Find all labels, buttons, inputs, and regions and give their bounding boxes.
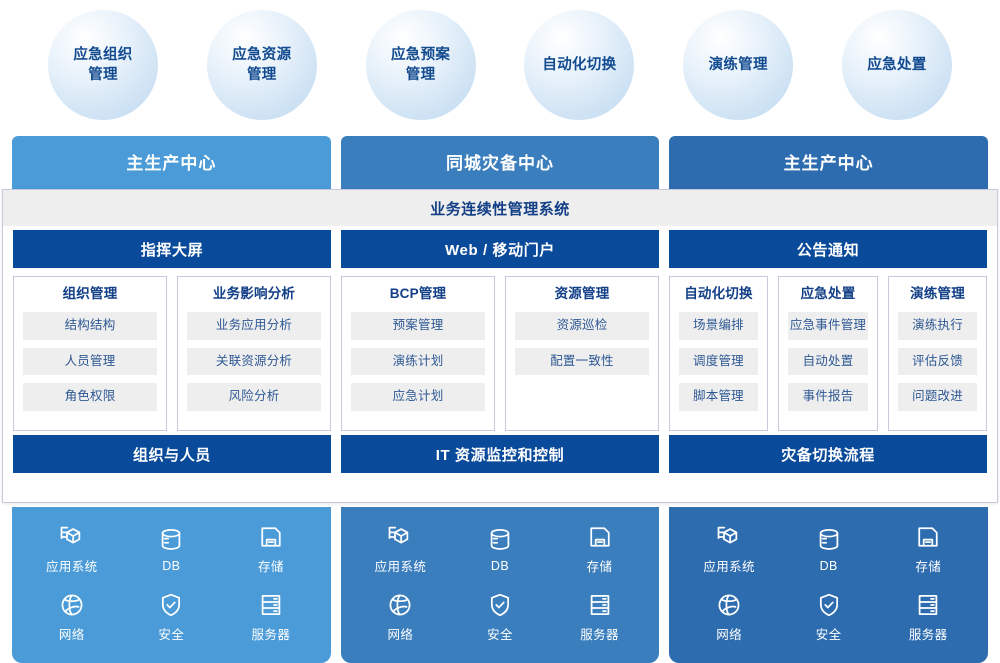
infra-label: 网络	[59, 624, 85, 643]
module-group-notification: 自动化切换场景编排调度管理脚本管理应急处置应急事件管理自动处置事件报告演练管理演…	[669, 276, 987, 431]
storage-icon	[914, 523, 942, 551]
module-item[interactable]: 脚本管理	[679, 383, 758, 411]
application-system-icon	[715, 523, 743, 551]
capability-circle-emergency-response[interactable]: 应急处置	[842, 10, 952, 120]
bar-dr-switchover-process[interactable]: 灾备切换流程	[669, 435, 987, 473]
module-item[interactable]: 关联资源分析	[187, 348, 321, 376]
center-header-metro-disaster-recovery-center[interactable]: 同城灾备中心	[341, 136, 660, 192]
infra-label: 安全	[487, 624, 513, 643]
center-header-primary-production-center-1[interactable]: 主生产中心	[12, 136, 331, 192]
infra-cell-storage[interactable]: 存储	[586, 523, 614, 575]
infra-cell-database[interactable]: DB	[815, 526, 843, 573]
infra-cell-security-shield[interactable]: 安全	[815, 591, 843, 643]
module-column-title: 演练管理	[898, 286, 977, 304]
capability-circle-emergency-plan-management[interactable]: 应急预案 管理	[366, 10, 476, 120]
module-column-emergency-response-module[interactable]: 应急处置应急事件管理自动处置事件报告	[778, 276, 878, 431]
module-item[interactable]: 自动处置	[788, 348, 868, 376]
security-shield-icon	[815, 591, 843, 619]
panel-title: 业务连续性管理系统	[3, 190, 997, 226]
capability-circle-label: 应急处置	[867, 55, 926, 75]
architecture-diagram: 应急组织 管理应急资源 管理应急预案 管理自动化切换演练管理应急处置 主生产中心…	[0, 0, 1000, 663]
module-item[interactable]: 角色权限	[23, 383, 157, 411]
module-column-bcp-management[interactable]: BCP管理预案管理演练计划应急计划	[341, 276, 495, 431]
module-column-title: BCP管理	[351, 286, 485, 304]
capability-circle-label: 应急预案 管理	[391, 45, 450, 85]
bar-announcement-notification[interactable]: 公告通知	[669, 230, 987, 268]
server-rack-icon	[914, 591, 942, 619]
module-item[interactable]: 场景编排	[679, 312, 758, 340]
capability-circle-automated-switchover[interactable]: 自动化切换	[524, 10, 634, 120]
module-column-title: 自动化切换	[679, 286, 758, 304]
infra-cell-database[interactable]: DB	[486, 526, 514, 573]
module-column-resource-management[interactable]: 资源管理资源巡检配置一致性	[505, 276, 659, 431]
infra-label: 服务器	[909, 624, 948, 643]
capability-circle-label: 自动化切换	[542, 55, 616, 75]
module-item[interactable]: 应急事件管理	[788, 312, 868, 340]
center-header-primary-production-center-2[interactable]: 主生产中心	[669, 136, 988, 192]
module-column-drill-management-module[interactable]: 演练管理演练执行评估反馈问题改进	[888, 276, 987, 431]
module-item[interactable]: 配置一致性	[515, 348, 649, 376]
infra-cell-security-shield[interactable]: 安全	[486, 591, 514, 643]
module-item[interactable]: 应急计划	[351, 383, 485, 411]
module-column-business-impact-analysis[interactable]: 业务影响分析业务应用分析关联资源分析风险分析	[177, 276, 331, 431]
bottom-bar-row: 组织与人员IT 资源监控和控制灾备切换流程	[3, 431, 997, 473]
infra-primary-production-1: 应用系统DB存储网络安全服务器	[12, 507, 331, 663]
database-icon	[157, 526, 185, 554]
infra-label: 存储	[587, 556, 613, 575]
capability-circle-label: 应急组织 管理	[73, 45, 132, 85]
capability-circle-emergency-resource-management[interactable]: 应急资源 管理	[207, 10, 317, 120]
capability-circle-drill-management[interactable]: 演练管理	[683, 10, 793, 120]
infra-label: DB	[820, 559, 838, 573]
module-item[interactable]: 演练执行	[898, 312, 977, 340]
database-icon	[486, 526, 514, 554]
infra-cell-security-shield[interactable]: 安全	[157, 591, 185, 643]
application-system-icon	[58, 523, 86, 551]
capability-circle-row: 应急组织 管理应急资源 管理应急预案 管理自动化切换演练管理应急处置	[0, 0, 1000, 130]
infra-cell-application-system[interactable]: 应用系统	[375, 523, 427, 575]
module-group-command: 组织管理结构结构人员管理角色权限业务影响分析业务应用分析关联资源分析风险分析	[13, 276, 331, 431]
bar-organization-and-personnel[interactable]: 组织与人员	[13, 435, 331, 473]
network-icon	[715, 591, 743, 619]
module-group-portal: BCP管理预案管理演练计划应急计划资源管理资源巡检配置一致性	[341, 276, 659, 431]
server-rack-icon	[257, 591, 285, 619]
bar-command-big-screen[interactable]: 指挥大屏	[13, 230, 331, 268]
module-column-title: 应急处置	[788, 286, 868, 304]
database-icon	[815, 526, 843, 554]
top-bar-row: 指挥大屏Web / 移动门户公告通知	[3, 226, 997, 268]
module-column-organization-management[interactable]: 组织管理结构结构人员管理角色权限	[13, 276, 167, 431]
security-shield-icon	[486, 591, 514, 619]
infra-cell-application-system[interactable]: 应用系统	[703, 523, 755, 575]
infra-cell-storage[interactable]: 存储	[257, 523, 285, 575]
infra-label: 存储	[258, 556, 284, 575]
application-system-icon	[386, 523, 414, 551]
infra-label: DB	[162, 559, 180, 573]
module-item[interactable]: 资源巡检	[515, 312, 649, 340]
infra-label: 应用系统	[46, 556, 98, 575]
module-column-title: 组织管理	[23, 286, 157, 304]
module-column-title: 资源管理	[515, 286, 649, 304]
network-icon	[58, 591, 86, 619]
module-item[interactable]: 人员管理	[23, 348, 157, 376]
module-item[interactable]: 评估反馈	[898, 348, 977, 376]
network-icon	[386, 591, 414, 619]
storage-icon	[586, 523, 614, 551]
capability-circle-label: 演练管理	[709, 55, 768, 75]
infra-cell-server-rack[interactable]: 服务器	[580, 591, 619, 643]
bcm-system-panel: 业务连续性管理系统 指挥大屏Web / 移动门户公告通知 组织管理结构结构人员管…	[2, 189, 998, 503]
module-item[interactable]: 业务应用分析	[187, 312, 321, 340]
infra-primary-production-2: 应用系统DB存储网络安全服务器	[669, 507, 988, 663]
infra-label: 应用系统	[703, 556, 755, 575]
infra-label: 存储	[915, 556, 941, 575]
infra-cell-application-system[interactable]: 应用系统	[46, 523, 98, 575]
storage-icon	[257, 523, 285, 551]
infra-label: 网络	[716, 624, 742, 643]
security-shield-icon	[157, 591, 185, 619]
infra-cell-server-rack[interactable]: 服务器	[909, 591, 948, 643]
infra-label: DB	[491, 559, 509, 573]
bar-it-resource-monitoring-control[interactable]: IT 资源监控和控制	[341, 435, 659, 473]
infra-cell-storage[interactable]: 存储	[914, 523, 942, 575]
infra-cell-database[interactable]: DB	[157, 526, 185, 573]
bar-web-mobile-portal[interactable]: Web / 移动门户	[341, 230, 659, 268]
module-column-automated-switchover-module[interactable]: 自动化切换场景编排调度管理脚本管理	[669, 276, 768, 431]
infra-label: 网络	[388, 624, 414, 643]
infra-cell-network[interactable]: 网络	[58, 591, 86, 643]
infra-label: 安全	[158, 624, 184, 643]
infra-label: 服务器	[580, 624, 619, 643]
module-item[interactable]: 调度管理	[679, 348, 758, 376]
module-item[interactable]: 事件报告	[788, 383, 868, 411]
infra-label: 安全	[816, 624, 842, 643]
infra-cell-network[interactable]: 网络	[715, 591, 743, 643]
module-grid: 组织管理结构结构人员管理角色权限业务影响分析业务应用分析关联资源分析风险分析BC…	[3, 268, 997, 431]
module-item[interactable]: 演练计划	[351, 348, 485, 376]
module-item[interactable]: 风险分析	[187, 383, 321, 411]
capability-circle-emergency-organization-management[interactable]: 应急组织 管理	[48, 10, 158, 120]
server-rack-icon	[586, 591, 614, 619]
infra-cell-network[interactable]: 网络	[386, 591, 414, 643]
module-item[interactable]: 结构结构	[23, 312, 157, 340]
infra-metro-dr: 应用系统DB存储网络安全服务器	[341, 507, 660, 663]
module-item[interactable]: 问题改进	[898, 383, 977, 411]
infra-cell-server-rack[interactable]: 服务器	[252, 591, 291, 643]
infra-label: 服务器	[252, 624, 291, 643]
module-column-title: 业务影响分析	[187, 286, 321, 304]
module-item[interactable]: 预案管理	[351, 312, 485, 340]
infrastructure-row: 应用系统DB存储网络安全服务器应用系统DB存储网络安全服务器应用系统DB存储网络…	[0, 507, 1000, 663]
infra-label: 应用系统	[375, 556, 427, 575]
data-center-header-row: 主生产中心同城灾备中心主生产中心	[0, 136, 1000, 192]
capability-circle-label: 应急资源 管理	[232, 45, 291, 85]
